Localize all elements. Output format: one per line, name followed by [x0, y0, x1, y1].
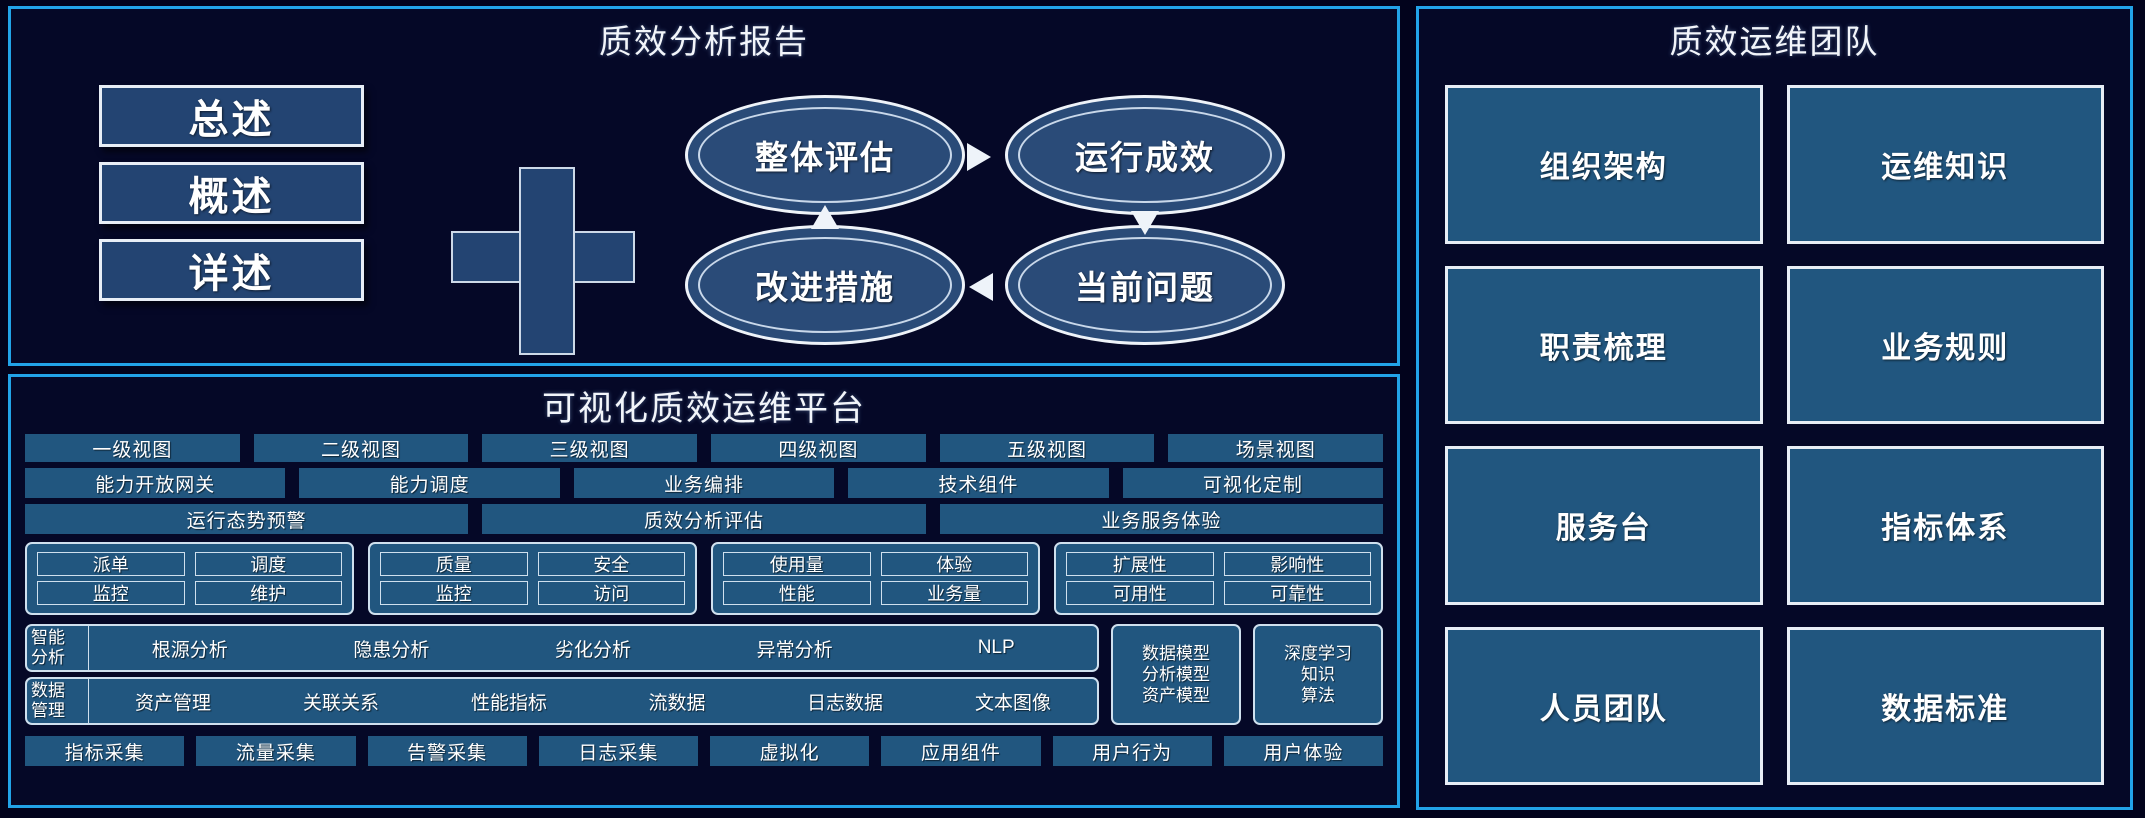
report-stack: 总述 概述 详述: [99, 85, 364, 301]
platform-panel: 可视化质效运维平台 一级视图 二级视图 三级视图 四级视图 五级视图 场景视图 …: [8, 374, 1400, 808]
side-box-line: 分析模型: [1142, 664, 1210, 685]
view-chip-5[interactable]: 五级视图: [940, 434, 1155, 462]
band-item[interactable]: 流数据: [593, 688, 761, 715]
view-chip-1[interactable]: 一级视图: [25, 434, 240, 462]
collection-chip-3[interactable]: 告警采集: [368, 736, 527, 766]
collection-chip-7[interactable]: 用户行为: [1053, 736, 1212, 766]
capability-chip-5[interactable]: 可视化定制: [1123, 468, 1383, 498]
operation-chip-1[interactable]: 运行态势预警: [25, 504, 468, 534]
capability-chip-4[interactable]: 技术组件: [848, 468, 1108, 498]
side-box-line: 知识: [1301, 664, 1335, 685]
team-box-business-rules[interactable]: 业务规则: [1787, 266, 2105, 425]
capability-chip-2[interactable]: 能力调度: [299, 468, 559, 498]
team-panel-title: 质效运维团队: [1419, 9, 2130, 63]
report-stack-box-3[interactable]: 详述: [99, 239, 364, 301]
arrow-left-icon: [969, 273, 993, 301]
view-chip-3[interactable]: 三级视图: [482, 434, 697, 462]
collection-row: 指标采集 流量采集 告警采集 日志采集 虚拟化 应用组件 用户行为 用户体验: [25, 736, 1383, 766]
collection-chip-6[interactable]: 应用组件: [881, 736, 1040, 766]
band-data-management: 数据 管理 资产管理 关联关系 性能指标 流数据 日志数据 文本图像: [25, 677, 1099, 725]
metric-group-reliability: 扩展性 影响性 可用性 可靠性: [1054, 542, 1383, 615]
side-box-line: 深度学习: [1284, 643, 1352, 664]
operation-row: 运行态势预警 质效分析评估 业务服务体验: [25, 504, 1383, 534]
metric-cell[interactable]: 业务量: [881, 581, 1029, 605]
metric-cell[interactable]: 安全: [538, 552, 686, 576]
report-body: 总述 概述 详述 整体评估 运行成效 改进: [11, 63, 1397, 363]
operation-chip-3[interactable]: 业务服务体验: [940, 504, 1383, 534]
metric-cell[interactable]: 可用性: [1066, 581, 1214, 605]
right-column: 质效运维团队 组织架构 运维知识 职责梳理 业务规则 服务台 指标体系 人员团队…: [1416, 6, 2133, 810]
platform-panel-title: 可视化质效运维平台: [11, 377, 1397, 430]
band-label-line1: 智能: [31, 628, 65, 648]
analysis-bands: 智能 分析 根源分析 隐患分析 劣化分析 异常分析 NLP: [25, 624, 1099, 725]
side-box-line: 算法: [1301, 685, 1335, 706]
band-intelligent-analysis: 智能 分析 根源分析 隐患分析 劣化分析 异常分析 NLP: [25, 624, 1099, 672]
band-label-line1: 数据: [31, 681, 65, 701]
left-column: 质效分析报告 总述 概述 详述 整体评估 运行成效: [8, 6, 1400, 810]
capability-chip-1[interactable]: 能力开放网关: [25, 468, 285, 498]
side-box-line: 数据模型: [1142, 643, 1210, 664]
ellipse-overall-assessment[interactable]: 整体评估: [685, 95, 965, 215]
metric-cell[interactable]: 可靠性: [1224, 581, 1372, 605]
metric-group-quality: 质量 安全 监控 访问: [368, 542, 697, 615]
team-grid: 组织架构 运维知识 职责梳理 业务规则 服务台 指标体系 人员团队 数据标准: [1419, 63, 2130, 805]
view-chip-6[interactable]: 场景视图: [1168, 434, 1383, 462]
collection-chip-2[interactable]: 流量采集: [196, 736, 355, 766]
team-panel: 质效运维团队 组织架构 运维知识 职责梳理 业务规则 服务台 指标体系 人员团队…: [1416, 6, 2133, 810]
band-items-intelligent: 根源分析 隐患分析 劣化分析 异常分析 NLP: [89, 626, 1097, 670]
operation-chip-2[interactable]: 质效分析评估: [482, 504, 925, 534]
analysis-data-row: 智能 分析 根源分析 隐患分析 劣化分析 异常分析 NLP: [25, 624, 1383, 725]
metric-group-usage: 使用量 体验 性能 业务量: [711, 542, 1040, 615]
ellipse-improvement-measures[interactable]: 改进措施: [685, 225, 965, 345]
metric-group-dispatch: 派单 调度 监控 维护: [25, 542, 354, 615]
report-stack-box-1[interactable]: 总述: [99, 85, 364, 147]
metric-cell[interactable]: 体验: [881, 552, 1029, 576]
collection-chip-4[interactable]: 日志采集: [539, 736, 698, 766]
band-item[interactable]: 日志数据: [761, 688, 929, 715]
band-item[interactable]: 资产管理: [89, 688, 257, 715]
side-box-deep-learning[interactable]: 深度学习 知识 算法: [1253, 624, 1383, 725]
band-label-intelligent: 智能 分析: [27, 626, 89, 670]
metric-cell[interactable]: 派单: [37, 552, 185, 576]
report-panel: 质效分析报告 总述 概述 详述 整体评估 运行成效: [8, 6, 1400, 366]
metric-cell[interactable]: 访问: [538, 581, 686, 605]
metric-group-row: 派单 调度 监控 维护 质量 安全 监控 访问 使用量 体验 性能: [25, 542, 1383, 615]
band-item[interactable]: 性能指标: [425, 688, 593, 715]
view-chip-4[interactable]: 四级视图: [711, 434, 926, 462]
metric-cell[interactable]: 扩展性: [1066, 552, 1214, 576]
band-item[interactable]: 劣化分析: [492, 635, 694, 662]
metric-cell[interactable]: 性能: [723, 581, 871, 605]
team-box-personnel-team[interactable]: 人员团队: [1445, 627, 1763, 786]
side-box-line: 资产模型: [1142, 685, 1210, 706]
platform-body: 一级视图 二级视图 三级视图 四级视图 五级视图 场景视图 能力开放网关 能力调…: [11, 430, 1397, 766]
capability-row: 能力开放网关 能力调度 业务编排 技术组件 可视化定制: [25, 468, 1383, 498]
ellipse-label-4: 当前问题: [1075, 261, 1215, 309]
band-item[interactable]: 关联关系: [257, 688, 425, 715]
metric-cell[interactable]: 维护: [195, 581, 343, 605]
report-panel-title: 质效分析报告: [11, 9, 1397, 63]
ellipse-cycle: 整体评估 运行成效 改进措施 当前问题: [671, 73, 1331, 363]
metric-cell[interactable]: 质量: [380, 552, 528, 576]
ellipse-label-3: 改进措施: [755, 261, 895, 309]
metric-cell[interactable]: 影响性: [1224, 552, 1372, 576]
team-box-service-desk[interactable]: 服务台: [1445, 446, 1763, 605]
view-chip-2[interactable]: 二级视图: [254, 434, 469, 462]
ellipse-label-1: 整体评估: [755, 131, 895, 179]
metric-cell[interactable]: 监控: [37, 581, 185, 605]
band-label-line2: 管理: [31, 701, 65, 721]
band-items-data: 资产管理 关联关系 性能指标 流数据 日志数据 文本图像: [89, 679, 1097, 723]
arrow-right-icon: [967, 143, 991, 171]
ellipse-operation-effect[interactable]: 运行成效: [1005, 95, 1285, 215]
capability-chip-3[interactable]: 业务编排: [574, 468, 834, 498]
band-item[interactable]: 异常分析: [694, 635, 896, 662]
architecture-diagram: 质效分析报告 总述 概述 详述 整体评估 运行成效: [0, 0, 2145, 818]
plus-icon: [451, 231, 635, 283]
view-level-row: 一级视图 二级视图 三级视图 四级视图 五级视图 场景视图: [25, 434, 1383, 462]
metric-cell[interactable]: 调度: [195, 552, 343, 576]
arrow-up-icon: [811, 205, 839, 229]
band-label-data: 数据 管理: [27, 679, 89, 723]
metric-cell[interactable]: 监控: [380, 581, 528, 605]
team-box-org-structure[interactable]: 组织架构: [1445, 85, 1763, 244]
collection-chip-1[interactable]: 指标采集: [25, 736, 184, 766]
metric-cell[interactable]: 使用量: [723, 552, 871, 576]
side-box-data-model[interactable]: 数据模型 分析模型 资产模型: [1111, 624, 1241, 725]
model-side-boxes: 数据模型 分析模型 资产模型 深度学习 知识 算法: [1111, 624, 1383, 725]
band-item[interactable]: 根源分析: [89, 635, 291, 662]
band-label-line2: 分析: [31, 648, 65, 668]
band-item[interactable]: 隐患分析: [291, 635, 493, 662]
team-box-responsibility[interactable]: 职责梳理: [1445, 266, 1763, 425]
collection-chip-8[interactable]: 用户体验: [1224, 736, 1383, 766]
arrow-down-icon: [1131, 211, 1159, 235]
report-stack-box-2[interactable]: 概述: [99, 162, 364, 224]
ellipse-current-issues[interactable]: 当前问题: [1005, 225, 1285, 345]
band-item[interactable]: NLP: [895, 637, 1097, 659]
team-box-data-standard[interactable]: 数据标准: [1787, 627, 2105, 786]
collection-chip-5[interactable]: 虚拟化: [710, 736, 869, 766]
team-box-ops-knowledge[interactable]: 运维知识: [1787, 85, 2105, 244]
ellipse-label-2: 运行成效: [1075, 131, 1215, 179]
team-box-metric-system[interactable]: 指标体系: [1787, 446, 2105, 605]
band-item[interactable]: 文本图像: [929, 688, 1097, 715]
